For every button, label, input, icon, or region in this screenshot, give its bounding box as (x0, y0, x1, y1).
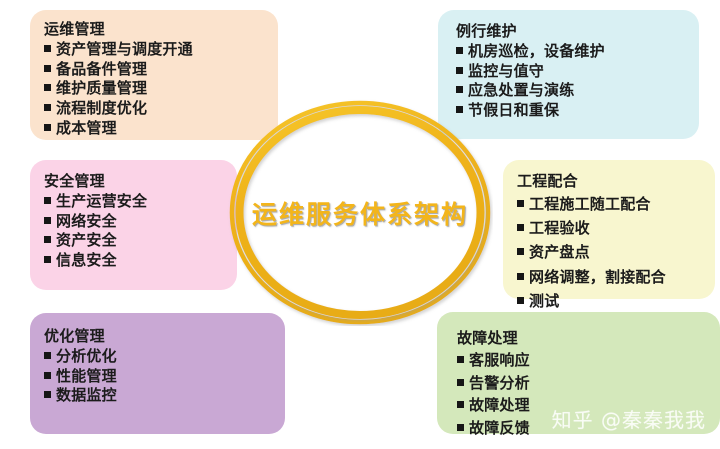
list-item: 维护质量管理 (44, 79, 266, 99)
list-item: 告警分析 (457, 372, 708, 395)
list-item-label: 资产盘点 (529, 240, 590, 264)
list-item: 机房巡检，设备维护 (456, 42, 687, 62)
card-item-list: 工程施工随工配合 工程验收 资产盘点 网络调整，割接配合 测试 (517, 192, 703, 313)
square-bullet-icon (517, 224, 524, 231)
square-bullet-icon (44, 45, 51, 52)
list-item: 工程验收 (517, 216, 703, 240)
list-item-label: 成本管理 (56, 119, 117, 139)
list-item-label: 机房巡检，设备维护 (468, 42, 605, 62)
list-item-label: 数据监控 (56, 386, 117, 406)
list-item: 分析优化 (44, 347, 273, 367)
list-item-label: 测试 (529, 289, 559, 313)
square-bullet-icon (44, 104, 51, 111)
center-title: 运维服务体系架构 (227, 99, 493, 326)
card-title: 工程配合 (517, 172, 703, 191)
square-bullet-icon (44, 217, 51, 224)
square-bullet-icon (44, 372, 51, 379)
square-bullet-icon (44, 124, 51, 131)
list-item-label: 工程施工随工配合 (529, 192, 651, 216)
list-item: 工程施工随工配合 (517, 192, 703, 216)
list-item: 监控与值守 (456, 62, 687, 82)
square-bullet-icon (44, 256, 51, 263)
card-title: 运维管理 (44, 20, 266, 39)
list-item-label: 故障处理 (469, 394, 530, 417)
square-bullet-icon (44, 391, 51, 398)
list-item: 生产运营安全 (44, 192, 225, 212)
list-item: 资产安全 (44, 231, 225, 251)
center-hub-circle: 运维服务体系架构 (227, 99, 493, 326)
list-item: 资产盘点 (517, 240, 703, 264)
square-bullet-icon (44, 197, 51, 204)
list-item: 网络安全 (44, 212, 225, 232)
list-item-label: 告警分析 (469, 372, 530, 395)
square-bullet-icon (457, 401, 464, 408)
card-item-list: 生产运营安全 网络安全 资产安全 信息安全 (44, 192, 225, 271)
square-bullet-icon (44, 352, 51, 359)
card-engineering-coordination[interactable]: 工程配合 工程施工随工配合 工程验收 资产盘点 网络调整，割接配合 测试 (503, 160, 715, 299)
square-bullet-icon (457, 379, 464, 386)
diagram-canvas: 运维管理 资产管理与调度开通 备品备件管理 维护质量管理 流程制度优化 成本管理… (0, 0, 720, 449)
square-bullet-icon (44, 236, 51, 243)
list-item: 网络调整，割接配合 (517, 265, 703, 289)
card-title: 故障处理 (457, 329, 708, 348)
square-bullet-icon (456, 67, 463, 74)
watermark: 知乎 @秦秦我我 (552, 404, 706, 433)
square-bullet-icon (517, 297, 524, 304)
card-security-management[interactable]: 安全管理 生产运营安全 网络安全 资产安全 信息安全 (30, 160, 237, 290)
square-bullet-icon (457, 356, 464, 363)
list-item: 客服响应 (457, 349, 708, 372)
square-bullet-icon (44, 65, 51, 72)
square-bullet-icon (517, 248, 524, 255)
list-item-label: 流程制度优化 (56, 99, 147, 119)
square-bullet-icon (44, 84, 51, 91)
square-bullet-icon (457, 424, 464, 431)
card-title: 例行维护 (456, 22, 687, 41)
list-item-label: 资产安全 (56, 231, 117, 251)
list-item: 性能管理 (44, 367, 273, 387)
card-item-list: 分析优化 性能管理 数据监控 (44, 347, 273, 406)
list-item-label: 生产运营安全 (56, 192, 147, 212)
list-item: 信息安全 (44, 251, 225, 271)
list-item-label: 客服响应 (469, 349, 530, 372)
list-item-label: 故障反馈 (469, 417, 530, 440)
square-bullet-icon (517, 200, 524, 207)
square-bullet-icon (456, 47, 463, 54)
list-item-label: 资产管理与调度开通 (56, 40, 193, 60)
list-item: 数据监控 (44, 386, 273, 406)
list-item-label: 工程验收 (529, 216, 590, 240)
list-item-label: 网络调整，割接配合 (529, 265, 666, 289)
list-item-label: 维护质量管理 (56, 79, 147, 99)
list-item-label: 监控与值守 (468, 62, 544, 82)
list-item-label: 网络安全 (56, 212, 117, 232)
center-title-label: 运维服务体系架构 (252, 195, 468, 231)
card-optimization-management[interactable]: 优化管理 分析优化 性能管理 数据监控 (30, 313, 285, 434)
card-title: 安全管理 (44, 172, 225, 191)
list-item: 测试 (517, 289, 703, 313)
list-item-label: 备品备件管理 (56, 60, 147, 80)
list-item: 备品备件管理 (44, 60, 266, 80)
list-item-label: 性能管理 (56, 367, 117, 387)
card-title: 优化管理 (44, 327, 273, 346)
list-item-label: 信息安全 (56, 251, 117, 271)
square-bullet-icon (517, 273, 524, 280)
list-item: 资产管理与调度开通 (44, 40, 266, 60)
list-item-label: 分析优化 (56, 347, 117, 367)
square-bullet-icon (456, 86, 463, 93)
